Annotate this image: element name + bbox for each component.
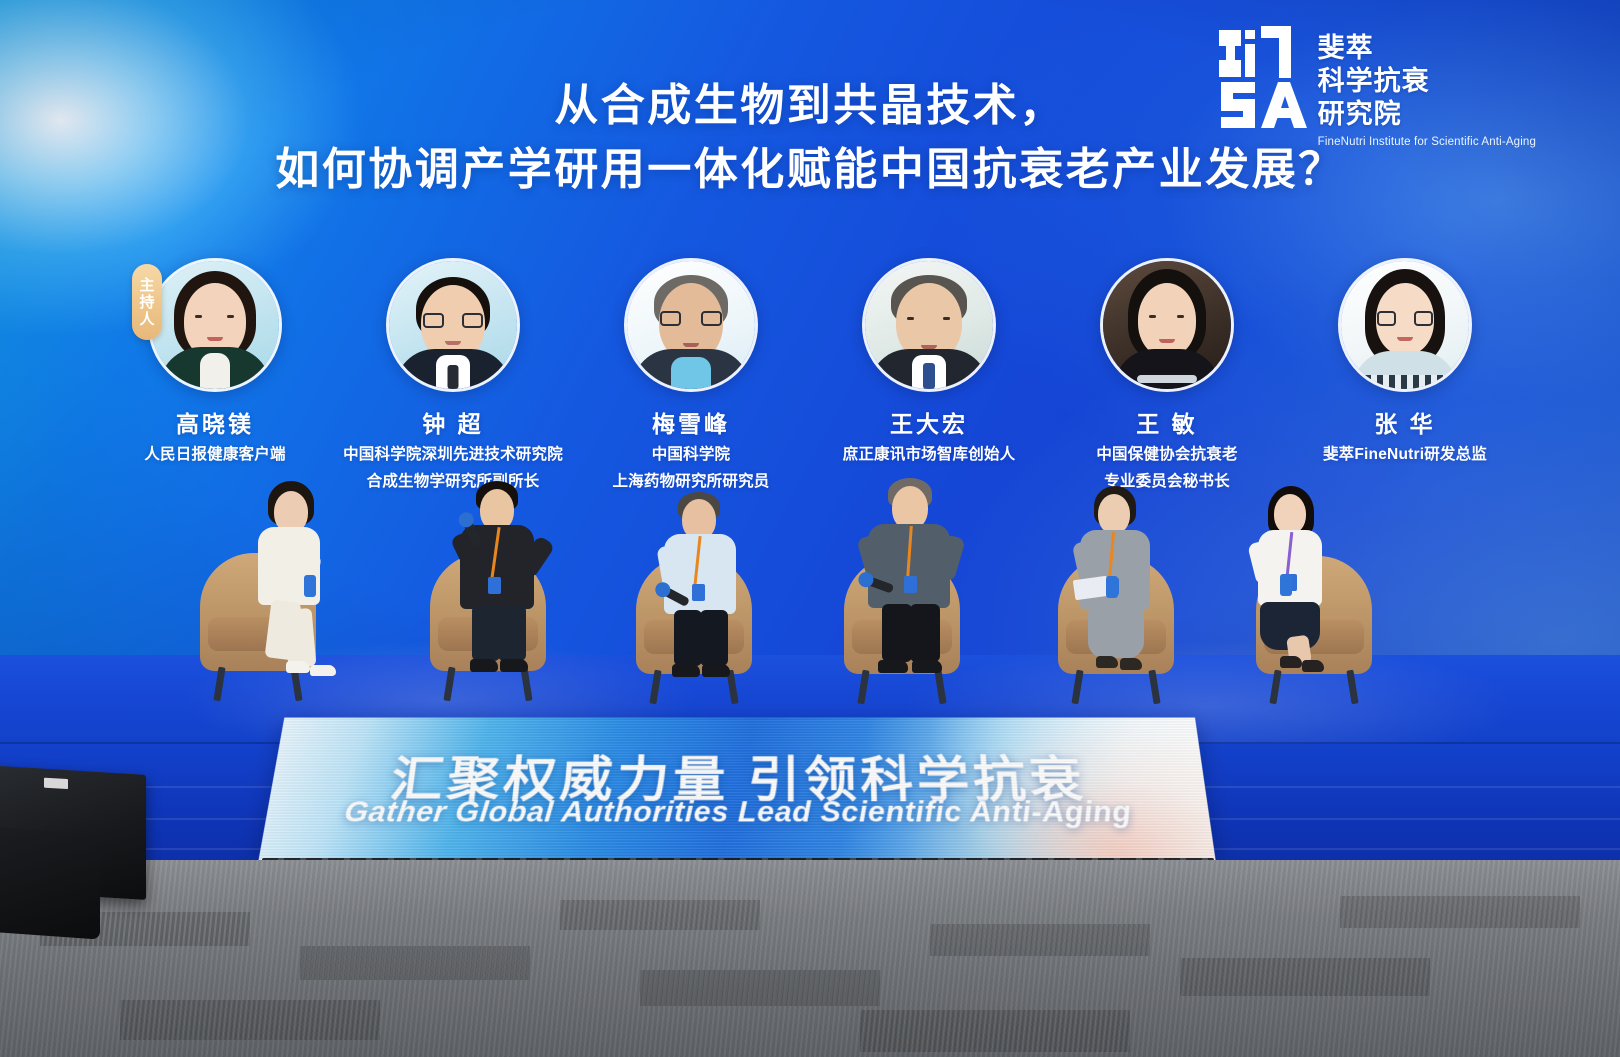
led-ribbon-banner: 汇聚权威力量 引领科学抗衰 Gather Global Authorities …: [258, 718, 1216, 863]
panelist-org-line: 庶正康讯市场智库创始人: [843, 444, 1016, 466]
host-badge-char: 人: [139, 312, 154, 327]
person-figure: [438, 481, 576, 671]
panelist-org-line: 斐萃FineNutri研发总监: [1323, 444, 1487, 466]
session-title-line-2: 如何协调产学研用一体化赋能中国抗衰老产业发展？: [0, 142, 1620, 198]
person-figure: [242, 481, 362, 671]
led-banner-en-text: Gather Global Authorities Lead Scientifi…: [264, 796, 1211, 829]
host-badge-char: 主: [139, 278, 154, 293]
logo-cn-line-1: 斐萃: [1318, 32, 1536, 65]
session-title: 从合成生物到共晶技术， 如何协调产学研用一体化赋能中国抗衰老产业发展？: [0, 78, 1620, 198]
panelist-org-line: 中国科学院: [652, 444, 731, 466]
panelist-portrait: [862, 258, 996, 392]
panelist-card: 主 持 人 高晓镁: [96, 258, 334, 493]
panelist-name: 梅雪峰: [652, 405, 730, 439]
panelist-card: 梅雪峰 中国科学院 上海药物研究所研究员: [572, 258, 810, 493]
panelist-org-line: 中国科学院深圳先进技术研究院: [343, 444, 563, 466]
panelist-name: 钟 超: [422, 405, 483, 439]
panelist-portrait: [1338, 258, 1472, 392]
seated-panelist: [818, 482, 1018, 696]
equipment-bag: [0, 825, 100, 939]
panelist-card: 钟 超 中国科学院深圳先进技术研究院 合成生物学研究所副所长: [334, 258, 572, 493]
equipment-label: [44, 778, 68, 789]
venue-carpet: [0, 860, 1620, 1057]
panelist-name: 王大宏: [890, 405, 968, 439]
panelist-card: 王 敏 中国保健协会抗衰老 专业委员会秘书长: [1048, 258, 1286, 493]
seated-panelist: [614, 496, 810, 696]
panelist-name: 张 华: [1374, 405, 1435, 439]
panelist-card: 张 华 斐萃FineNutri研发总监: [1286, 258, 1524, 493]
person-figure: [854, 478, 986, 674]
conference-panel-photo: 斐萃 科学抗衰 研究院 FineNutri Institute for Scie…: [0, 0, 1620, 1057]
seated-panelist: [1206, 492, 1402, 696]
person-figure: [650, 492, 776, 674]
panelist-name: 王 敏: [1136, 405, 1197, 439]
panelist-portrait: [386, 258, 520, 392]
seated-panelist: [1022, 492, 1218, 696]
seated-panelist: [196, 488, 386, 693]
panelist-portrait: [148, 258, 282, 392]
session-title-line-1: 从合成生物到共晶技术，: [0, 78, 1620, 134]
person-figure: [1244, 486, 1366, 674]
panelist-org-line: 人民日报健康客户端: [144, 444, 285, 466]
panelist-org-line: 上海药物研究所研究员: [612, 471, 769, 493]
panelist-card: 王大宏 庶正康讯市场智库创始人: [810, 258, 1048, 493]
host-badge: 主 持 人: [132, 264, 162, 340]
seated-panelist: [404, 488, 600, 693]
panelist-row: 主 持 人 高晓镁: [0, 258, 1620, 493]
panelist-name: 高晓镁: [176, 405, 254, 439]
panelist-portrait: [624, 258, 758, 392]
host-badge-char: 持: [139, 295, 154, 310]
person-figure: [1068, 486, 1186, 674]
panelist-org-line: 中国保健协会抗衰老: [1096, 444, 1237, 466]
panelist-portrait: [1100, 258, 1234, 392]
